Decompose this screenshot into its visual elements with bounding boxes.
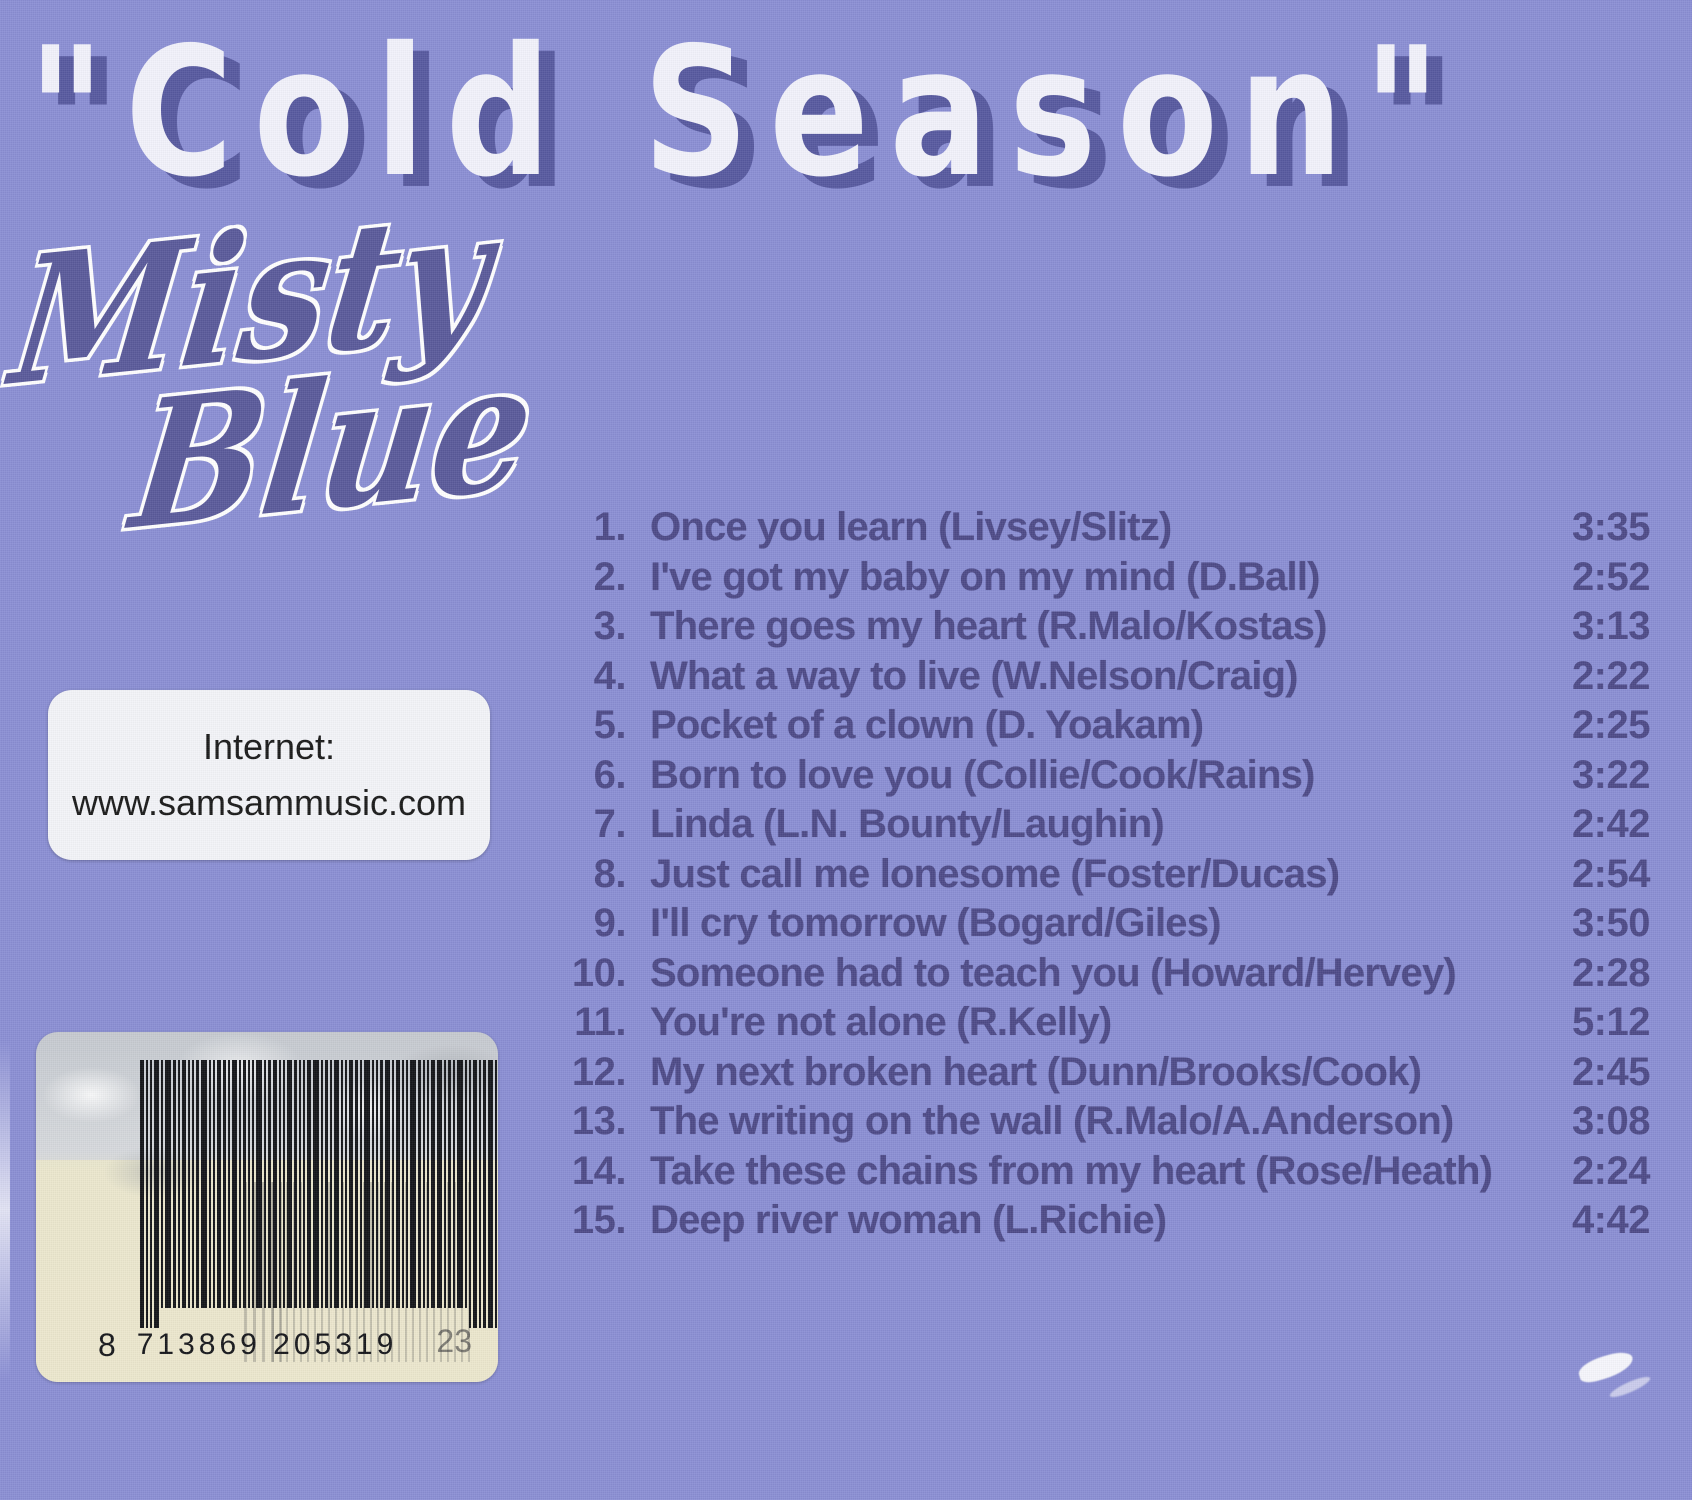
barcode-bar bbox=[287, 1060, 292, 1308]
track-title: I've got my baby on my mind (D.Ball) bbox=[650, 555, 1530, 600]
barcode-bar bbox=[431, 1060, 435, 1308]
track-title: Born to love you (Collie/Cook/Rains) bbox=[650, 753, 1530, 798]
track-duration: 2:42 bbox=[1530, 802, 1650, 847]
scuff-mark bbox=[1576, 1349, 1636, 1386]
barcode-bar bbox=[448, 1060, 451, 1308]
barcode-bar bbox=[294, 1060, 297, 1308]
barcode-bar bbox=[330, 1060, 332, 1308]
barcode-bar bbox=[223, 1060, 226, 1308]
track-row: 5.Pocket of a clown (D. Yoakam)2:25 bbox=[540, 703, 1650, 753]
barcode-bar bbox=[488, 1060, 493, 1328]
track-title: I'll cry tomorrow (Bogard/Giles) bbox=[650, 901, 1530, 946]
track-row: 10.Someone had to teach you (Howard/Herv… bbox=[540, 951, 1650, 1001]
track-row: 1.Once you learn (Livsey/Slitz)3:35 bbox=[540, 505, 1650, 555]
barcode-bar bbox=[299, 1060, 301, 1308]
track-title: The writing on the wall (R.Malo/A.Anders… bbox=[650, 1099, 1530, 1144]
track-number: 13. bbox=[540, 1099, 650, 1144]
barcode-bar bbox=[213, 1060, 215, 1308]
track-row: 12.My next broken heart (Dunn/Brooks/Coo… bbox=[540, 1050, 1650, 1100]
track-number: 10. bbox=[540, 951, 650, 996]
track-number: 6. bbox=[540, 753, 650, 798]
track-title: Once you learn (Livsey/Slitz) bbox=[650, 505, 1530, 550]
barcode-digits: 713869 205319 bbox=[36, 1328, 498, 1362]
scuff-mark-secondary bbox=[1608, 1373, 1652, 1400]
cd-back-cover: "Cold Season" "Cold Season" Misty Blue I… bbox=[0, 0, 1692, 1500]
barcode-bar bbox=[256, 1060, 262, 1308]
barcode-bar bbox=[495, 1060, 497, 1328]
barcode-bar bbox=[252, 1060, 254, 1308]
barcode-bar bbox=[380, 1060, 383, 1308]
barcode-bar bbox=[150, 1060, 152, 1328]
track-row: 6.Born to love you (Collie/Cook/Rains)3:… bbox=[540, 753, 1650, 803]
barcode-bar bbox=[279, 1060, 281, 1308]
track-number: 12. bbox=[540, 1050, 650, 1095]
track-number: 9. bbox=[540, 901, 650, 946]
barcode-bar bbox=[360, 1060, 362, 1308]
track-row: 14.Take these chains from my heart (Rose… bbox=[540, 1149, 1650, 1199]
barcode-bar bbox=[154, 1060, 159, 1328]
barcode-bar bbox=[349, 1060, 353, 1308]
barcode-bar bbox=[469, 1060, 471, 1328]
barcode-bar bbox=[268, 1060, 271, 1308]
barcode-bar bbox=[303, 1060, 305, 1308]
barcode-bar bbox=[209, 1060, 211, 1308]
barcode-bar bbox=[410, 1060, 416, 1308]
barcode-bar bbox=[178, 1060, 180, 1308]
track-duration: 3:13 bbox=[1530, 604, 1650, 649]
barcode-bar bbox=[483, 1060, 486, 1328]
website-url[interactable]: www.samsammusic.com bbox=[72, 782, 466, 824]
barcode-bar bbox=[396, 1060, 400, 1308]
barcode-bar bbox=[196, 1060, 199, 1308]
track-number: 3. bbox=[540, 604, 650, 649]
barcode-bar bbox=[437, 1060, 442, 1308]
barcode-bar bbox=[188, 1060, 190, 1308]
track-number: 2. bbox=[540, 555, 650, 600]
barcode-bar bbox=[465, 1060, 467, 1308]
track-duration: 2:45 bbox=[1530, 1050, 1650, 1095]
track-number: 14. bbox=[540, 1149, 650, 1194]
barcode-bar bbox=[264, 1060, 266, 1308]
barcode-ghost-digits: 23 bbox=[436, 1323, 472, 1360]
track-title: There goes my heart (R.Malo/Kostas) bbox=[650, 604, 1530, 649]
track-duration: 3:35 bbox=[1530, 505, 1650, 550]
track-row: 15.Deep river woman (L.Richie)4:42 bbox=[540, 1198, 1650, 1248]
internet-info-box: Internet: www.samsammusic.com bbox=[48, 690, 490, 860]
track-number: 11. bbox=[540, 1000, 650, 1045]
barcode-bar bbox=[232, 1060, 237, 1308]
track-title: What a way to live (W.Nelson/Craig) bbox=[650, 654, 1530, 699]
track-duration: 2:25 bbox=[1530, 703, 1650, 748]
track-listing: 1.Once you learn (Livsey/Slitz)3:352.I'v… bbox=[540, 505, 1650, 1248]
barcode-bar bbox=[402, 1060, 404, 1308]
track-title: Take these chains from my heart (Rose/He… bbox=[650, 1149, 1530, 1194]
barcode-bar bbox=[201, 1060, 207, 1308]
track-title: Deep river woman (L.Richie) bbox=[650, 1198, 1530, 1243]
barcode-bar bbox=[392, 1060, 394, 1308]
barcode-bars bbox=[140, 1060, 438, 1328]
track-title: Linda (L.N. Bounty/Laughin) bbox=[650, 802, 1530, 847]
barcode-bar bbox=[406, 1060, 408, 1308]
track-number: 15. bbox=[540, 1198, 650, 1243]
barcode-sticker: 8 713869 205319 23 bbox=[36, 1032, 498, 1382]
track-row: 8.Just call me lonesome (Foster/Ducas)2:… bbox=[540, 852, 1650, 902]
barcode-bar bbox=[325, 1060, 328, 1308]
track-duration: 5:12 bbox=[1530, 1000, 1650, 1045]
internet-label: Internet: bbox=[203, 726, 335, 768]
barcode-bar bbox=[217, 1060, 221, 1308]
barcode-bar bbox=[248, 1060, 250, 1308]
barcode-bar bbox=[427, 1060, 429, 1308]
barcode-bar bbox=[364, 1060, 370, 1308]
barcode-bar bbox=[283, 1060, 285, 1308]
track-number: 1. bbox=[540, 505, 650, 550]
barcode-bar bbox=[473, 1060, 477, 1328]
track-row: 13.The writing on the wall (R.Malo/A.And… bbox=[540, 1099, 1650, 1149]
barcode-bar bbox=[243, 1060, 246, 1308]
barcode-bar bbox=[341, 1060, 343, 1308]
barcode-bar bbox=[479, 1060, 481, 1328]
track-duration: 2:28 bbox=[1530, 951, 1650, 996]
barcode-bar bbox=[273, 1060, 277, 1308]
track-duration: 2:54 bbox=[1530, 852, 1650, 897]
barcode-bar bbox=[228, 1060, 230, 1308]
track-row: 7.Linda (L.N. Bounty/Laughin)2:42 bbox=[540, 802, 1650, 852]
track-row: 4.What a way to live (W.Nelson/Craig)2:2… bbox=[540, 654, 1650, 704]
track-row: 11.You're not alone (R.Kelly)5:12 bbox=[540, 1000, 1650, 1050]
barcode-bar bbox=[385, 1060, 390, 1308]
barcode-bar bbox=[165, 1060, 171, 1308]
track-number: 7. bbox=[540, 802, 650, 847]
track-duration: 3:50 bbox=[1530, 901, 1650, 946]
track-title: Pocket of a clown (D. Yoakam) bbox=[650, 703, 1530, 748]
barcode-bar bbox=[418, 1060, 421, 1308]
barcode-bar bbox=[140, 1060, 144, 1328]
track-title: My next broken heart (Dunn/Brooks/Cook) bbox=[650, 1050, 1530, 1095]
track-duration: 3:08 bbox=[1530, 1099, 1650, 1144]
barcode-bar bbox=[192, 1060, 194, 1308]
barcode-bar bbox=[161, 1060, 163, 1308]
track-duration: 2:52 bbox=[1530, 555, 1650, 600]
track-row: 3.There goes my heart (R.Malo/Kostas)3:1… bbox=[540, 604, 1650, 654]
barcode-bar bbox=[313, 1060, 319, 1308]
barcode-bar bbox=[307, 1060, 311, 1308]
track-duration: 2:24 bbox=[1530, 1149, 1650, 1194]
track-title: Just call me lonesome (Foster/Ducas) bbox=[650, 852, 1530, 897]
track-number: 5. bbox=[540, 703, 650, 748]
barcode-bar bbox=[376, 1060, 378, 1308]
track-row: 9.I'll cry tomorrow (Bogard/Giles)3:50 bbox=[540, 901, 1650, 951]
barcode-bar bbox=[457, 1060, 463, 1308]
barcode-bar bbox=[334, 1060, 339, 1308]
barcode-bar bbox=[146, 1060, 148, 1328]
barcode-bar bbox=[453, 1060, 455, 1308]
track-number: 8. bbox=[540, 852, 650, 897]
track-duration: 3:22 bbox=[1530, 753, 1650, 798]
barcode-bar bbox=[372, 1060, 374, 1308]
edge-highlight bbox=[0, 1040, 10, 1380]
track-title: You're not alone (R.Kelly) bbox=[650, 1000, 1530, 1045]
barcode-bar bbox=[173, 1060, 176, 1308]
track-duration: 2:22 bbox=[1530, 654, 1650, 699]
barcode-bar bbox=[239, 1060, 241, 1308]
track-title: Someone had to teach you (Howard/Hervey) bbox=[650, 951, 1530, 996]
track-duration: 4:42 bbox=[1530, 1198, 1650, 1243]
barcode-bar bbox=[321, 1060, 323, 1308]
track-number: 4. bbox=[540, 654, 650, 699]
barcode-bar bbox=[345, 1060, 347, 1308]
barcode-bar bbox=[423, 1060, 425, 1308]
barcode-bar bbox=[182, 1060, 186, 1308]
track-row: 2.I've got my baby on my mind (D.Ball)2:… bbox=[540, 555, 1650, 605]
barcode-bar bbox=[444, 1060, 446, 1308]
barcode-bar bbox=[355, 1060, 358, 1308]
